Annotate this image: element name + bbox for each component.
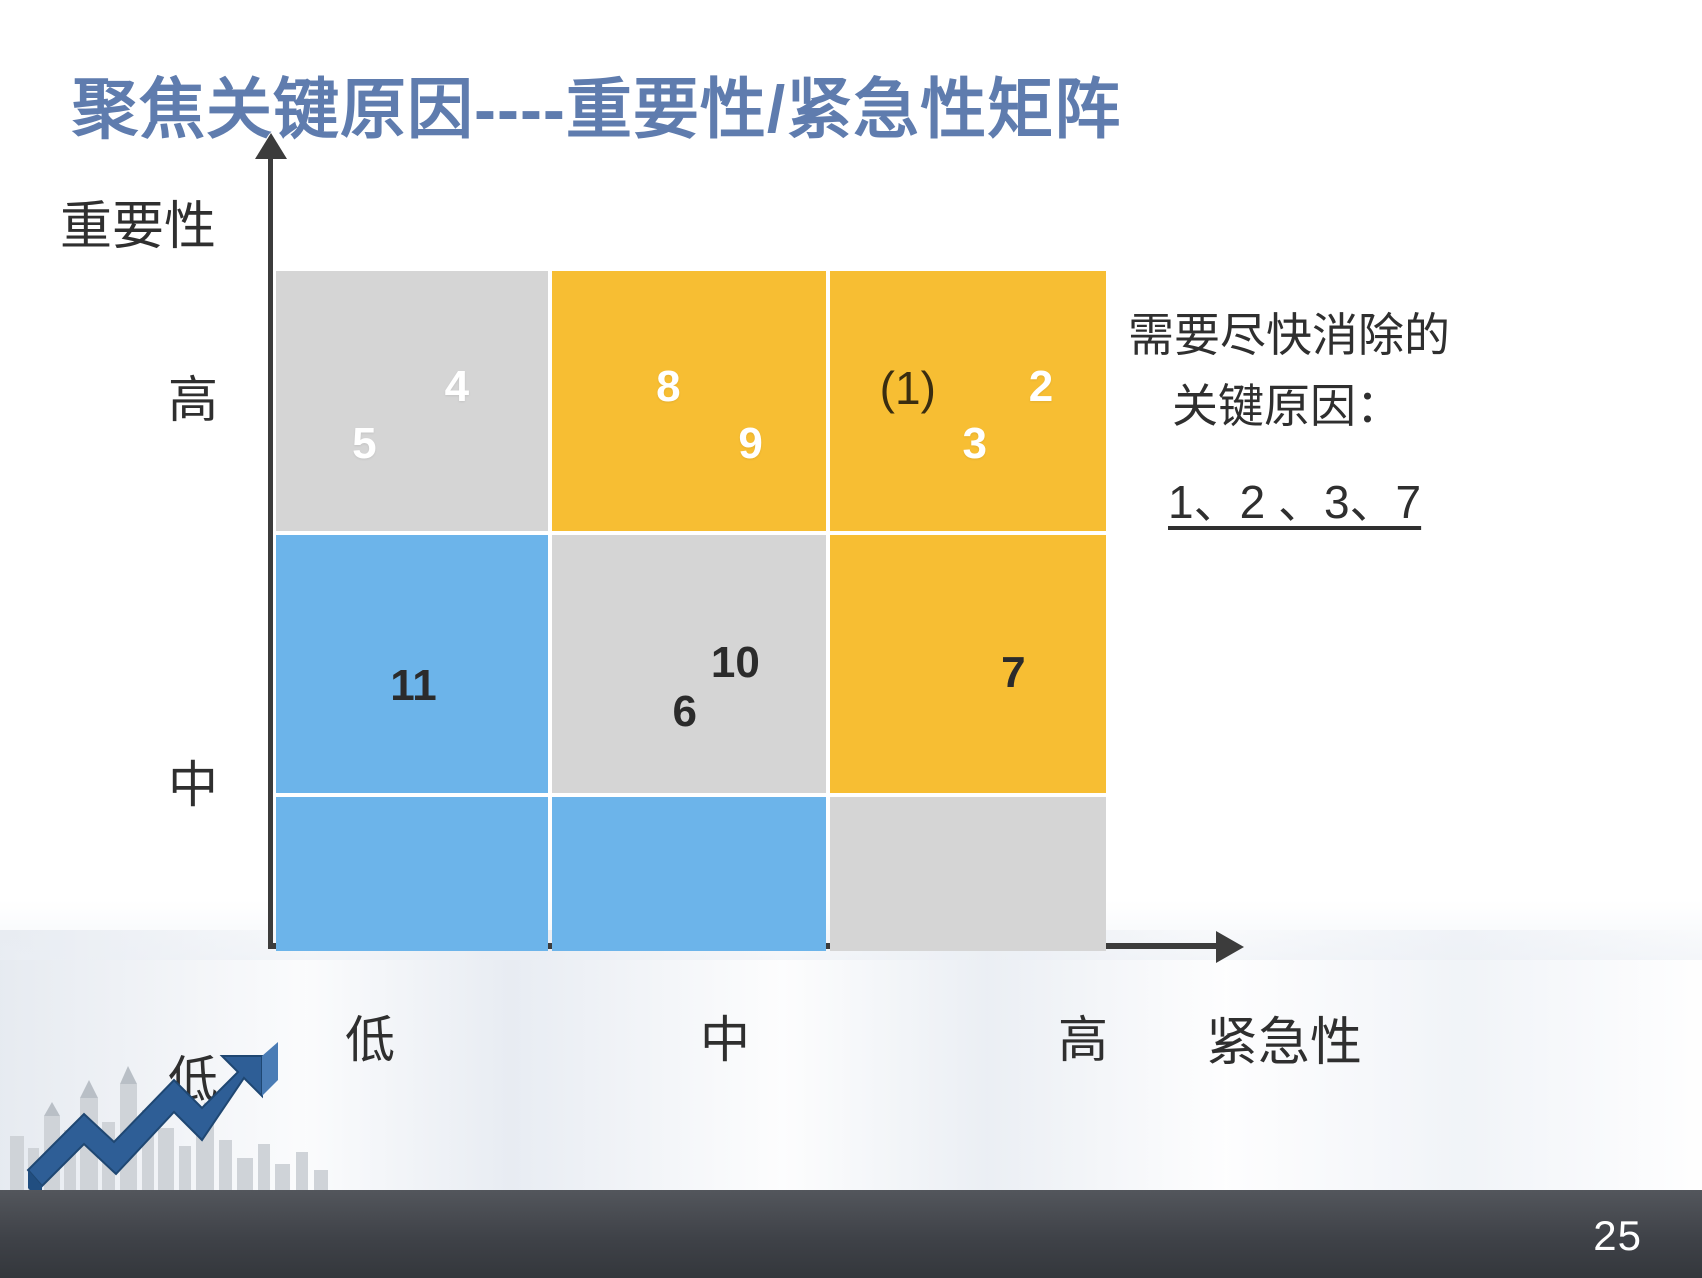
note-answer: 1、2 、3、7	[1128, 467, 1548, 538]
note-line-1: 需要尽快消除的	[1128, 300, 1548, 371]
x-tick-high: 高	[1058, 1000, 1108, 1072]
matrix-item-6: 6	[673, 690, 697, 734]
y-axis-line	[268, 152, 273, 948]
page-title: 聚焦关键原因----重要性/紧急性矩阵	[72, 56, 1121, 152]
x-tick-low: 低	[345, 1000, 395, 1072]
matrix-cell-中-低: 11	[276, 535, 548, 793]
note-line-2: 关键原因：	[1128, 371, 1548, 442]
priority-matrix: 4589(1)23111067	[276, 271, 1098, 943]
matrix-item-4: 4	[445, 365, 469, 409]
x-tick-mid: 中	[700, 1000, 750, 1072]
x-axis-arrow-icon	[1216, 931, 1244, 963]
matrix-cell-高-高: (1)23	[830, 271, 1106, 531]
matrix-item-11: 11	[390, 664, 437, 708]
y-axis-arrow-icon	[255, 133, 287, 159]
matrix-cell-高-低: 45	[276, 271, 548, 531]
matrix-item-1: (1)	[880, 365, 936, 411]
y-tick-low: 低	[168, 1040, 218, 1112]
matrix-item-3: 3	[962, 422, 986, 466]
matrix-item-10: 10	[711, 641, 760, 685]
page-number: 25	[1593, 1212, 1642, 1260]
matrix-cell-低-中	[552, 797, 826, 951]
matrix-item-9: 9	[738, 422, 762, 466]
matrix-item-5: 5	[352, 422, 376, 466]
matrix-cell-中-中: 106	[552, 535, 826, 793]
matrix-item-2: 2	[1029, 365, 1053, 409]
footer-band	[0, 1190, 1702, 1278]
x-axis-title: 紧急性	[1206, 1000, 1362, 1075]
y-tick-mid: 中	[168, 745, 218, 817]
matrix-cell-低-高	[830, 797, 1106, 951]
matrix-item-7: 7	[1001, 651, 1025, 695]
matrix-cell-低-低	[276, 797, 548, 951]
matrix-cell-高-中: 89	[552, 271, 826, 531]
matrix-item-8: 8	[656, 365, 680, 409]
y-axis-title: 重要性	[60, 184, 216, 259]
key-causes-note: 需要尽快消除的 关键原因： 1、2 、3、7	[1128, 300, 1548, 538]
y-tick-high: 高	[168, 360, 218, 432]
matrix-cell-中-高: 7	[830, 535, 1106, 793]
